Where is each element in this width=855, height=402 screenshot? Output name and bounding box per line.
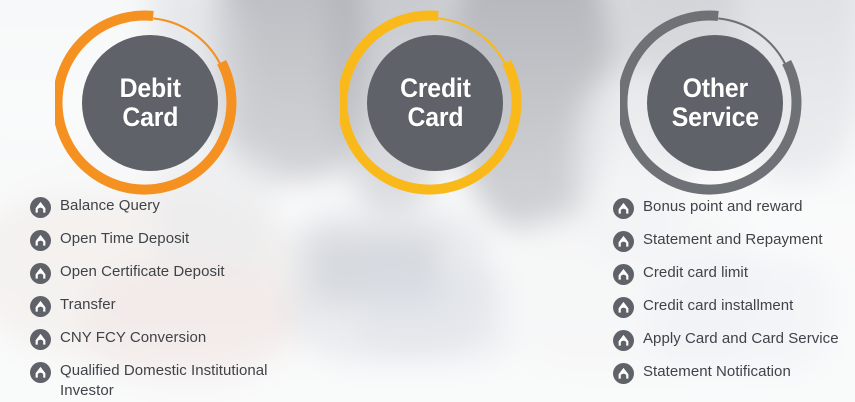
badge-inner-circle-other-service: Other Service — [647, 35, 783, 171]
list-item[interactable]: Statement and Repayment — [613, 230, 855, 252]
service-overview-banner: Debit Card Balance Query — [0, 0, 855, 402]
list-item[interactable]: Credit card limit — [613, 263, 855, 285]
badge-other-service[interactable]: Other Service — [620, 8, 810, 198]
badge-debit-card[interactable]: Debit Card — [55, 8, 245, 198]
service-item-label: Qualified Domestic Institutional Investo… — [60, 361, 268, 401]
service-item-label: Bonus point and reward — [643, 197, 803, 217]
list-item[interactable]: Open Time Deposit — [30, 229, 300, 251]
service-item-label: Open Certificate Deposit — [60, 262, 225, 282]
list-item[interactable]: Statement Notification — [613, 362, 855, 384]
list-item[interactable]: Balance Query — [30, 196, 300, 218]
service-column-debit-card: Debit Card Balance Query — [0, 0, 300, 198]
badge-title-debit-card: Debit Card — [119, 74, 180, 131]
list-item[interactable]: Qualified Domestic Institutional Investo… — [30, 361, 300, 401]
list-item[interactable]: Open Certificate Deposit — [30, 262, 300, 284]
chevron-up-circle-icon — [613, 363, 634, 384]
chevron-up-circle-icon — [613, 231, 634, 252]
chevron-up-circle-icon — [613, 297, 634, 318]
service-item-label: CNY FCY Conversion — [60, 328, 206, 348]
service-item-label: Credit card limit — [643, 263, 748, 283]
service-column-other-service: Other Service Branch Query — [575, 0, 855, 198]
chevron-up-circle-icon — [30, 362, 51, 383]
service-item-label: Statement Notification — [643, 362, 791, 382]
service-item-label: Apply Card and Card Service — [643, 329, 839, 349]
list-item[interactable]: Apply Card and Card Service — [613, 329, 855, 351]
list-item[interactable]: Bonus point and reward — [613, 197, 855, 219]
service-item-label: Statement and Repayment — [643, 230, 823, 250]
service-item-label: Credit card installment — [643, 296, 793, 316]
chevron-up-circle-icon — [613, 264, 634, 285]
badge-inner-circle-debit-card: Debit Card — [82, 35, 218, 171]
chevron-up-circle-icon — [30, 296, 51, 317]
service-list-credit-card: Bonus point and reward Statement and Rep… — [613, 197, 855, 395]
service-item-label: Open Time Deposit — [60, 229, 189, 249]
service-item-label: Balance Query — [60, 196, 160, 216]
service-column-credit-card: Credit Card Bonus point and reward — [285, 0, 585, 198]
badge-credit-card[interactable]: Credit Card — [340, 8, 530, 198]
chevron-up-circle-icon — [30, 329, 51, 350]
service-item-label: Transfer — [60, 295, 116, 315]
content-layer: Debit Card Balance Query — [0, 0, 855, 402]
chevron-up-circle-icon — [613, 198, 634, 219]
chevron-up-circle-icon — [30, 197, 51, 218]
service-list-debit-card: Balance Query Open Time Deposit — [30, 196, 300, 402]
list-item[interactable]: Credit card installment — [613, 296, 855, 318]
list-item[interactable]: Transfer — [30, 295, 300, 317]
list-item[interactable]: CNY FCY Conversion — [30, 328, 300, 350]
badge-title-credit-card: Credit Card — [400, 74, 471, 131]
chevron-up-circle-icon — [613, 330, 634, 351]
badge-title-other-service: Other Service — [671, 74, 758, 131]
chevron-up-circle-icon — [30, 263, 51, 284]
chevron-up-circle-icon — [30, 230, 51, 251]
badge-inner-circle-credit-card: Credit Card — [367, 35, 503, 171]
